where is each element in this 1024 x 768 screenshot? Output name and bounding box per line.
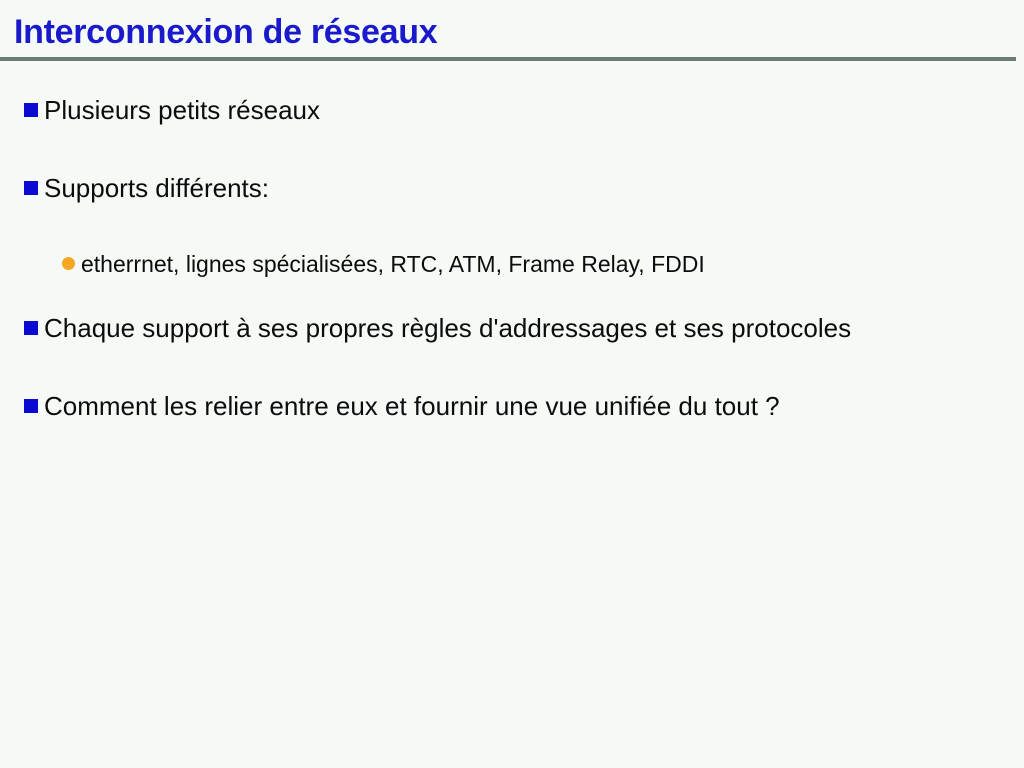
circle-bullet-icon bbox=[62, 257, 75, 270]
presentation-slide: Interconnexion de réseaux Plusieurs peti… bbox=[0, 0, 1024, 768]
sub-list-item-label: etherrnet, lignes spécialisées, RTC, ATM… bbox=[81, 248, 705, 280]
list-item: Plusieurs petits réseaux bbox=[0, 92, 1024, 128]
list-item: Supports différents: bbox=[0, 170, 1024, 206]
square-bullet-icon bbox=[24, 103, 38, 117]
square-bullet-icon bbox=[24, 181, 38, 195]
page-title: Interconnexion de réseaux bbox=[14, 12, 437, 52]
list-item: Comment les relier entre eux et fournir … bbox=[0, 388, 1024, 424]
list-item-label: Comment les relier entre eux et fournir … bbox=[44, 388, 780, 424]
slide-body: Plusieurs petits réseaux Supports différ… bbox=[0, 92, 1024, 466]
list-item-label: Chaque support à ses propres règles d'ad… bbox=[44, 310, 851, 346]
sub-list-item: etherrnet, lignes spécialisées, RTC, ATM… bbox=[0, 248, 1024, 280]
square-bullet-icon bbox=[24, 399, 38, 413]
title-divider bbox=[0, 57, 1016, 61]
square-bullet-icon bbox=[24, 321, 38, 335]
list-item: Chaque support à ses propres règles d'ad… bbox=[0, 310, 1024, 346]
list-item-label: Supports différents: bbox=[44, 170, 269, 206]
list-item-label: Plusieurs petits réseaux bbox=[44, 92, 320, 128]
